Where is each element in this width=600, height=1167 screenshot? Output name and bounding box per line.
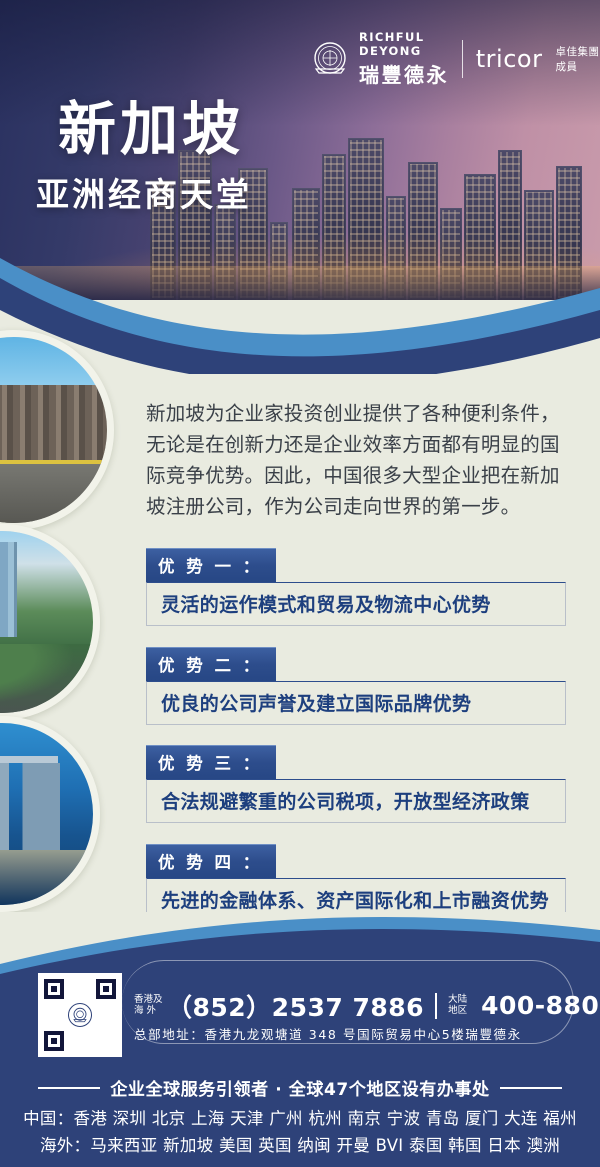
- phone-hk-label-line2: 海 外: [134, 1005, 156, 1016]
- qr-finder-top-right: [96, 979, 116, 999]
- advantage-text-2: 优良的公司声誉及建立国际品牌优势: [146, 681, 566, 725]
- phone-cn-label: 大陆 地区: [448, 995, 474, 1016]
- advantage-item-1: 优 势 一 ： 灵活的运作模式和贸易及物流中心优势: [146, 548, 566, 626]
- footer: 香港及 海 外 （852）2537 7886 大陆 地区 400-880 809…: [0, 912, 600, 1167]
- phone-hk-label: 香港及 海 外: [134, 995, 160, 1016]
- advantage-header-1: 优 势 一 ：: [146, 548, 276, 582]
- page-subtitle: 亚洲经商天堂: [36, 168, 252, 216]
- company-seal-emblem-icon: [310, 39, 350, 79]
- partner-name-cn: 卓佳集團成員: [555, 44, 600, 74]
- regions-overseas: 海外：马来西亚 新加坡 美国 英国 纳闽 开曼 BVI 泰国 韩国 日本 澳洲: [0, 1132, 600, 1159]
- advantage-item-2: 优 势 二 ： 优良的公司声誉及建立国际品牌优势: [146, 647, 566, 725]
- advantage-header-3: 优 势 三 ：: [146, 745, 276, 779]
- phone-cn-number[interactable]: 400-880 8098: [481, 991, 600, 1020]
- intro-paragraph: 新加坡为企业家投资创业提供了各种便利条件，无论是在创新力还是企业效率方面都有明显…: [146, 398, 564, 522]
- advantage-header-2: 优 势 二 ：: [146, 647, 276, 681]
- qr-code-icon[interactable]: [40, 975, 120, 1055]
- singapore-shophouse-street-photo: [0, 337, 107, 523]
- advantage-item-4: 优 势 四 ： 先进的金融体系、资产国际化和上市融资优势: [146, 844, 566, 922]
- photo-circle-1: [0, 330, 114, 530]
- phone-hk-label-line1: 香港及: [134, 994, 163, 1005]
- page-title: 新加坡: [58, 82, 244, 166]
- contact-row: 香港及 海 外 （852）2537 7886 大陆 地区 400-880 809…: [40, 975, 570, 1055]
- hero-banner: RICHFUL DEYONG 瑞豐德永 tricor 卓佳集團成員 新加坡 亚洲…: [0, 0, 600, 300]
- regions-china: 中国：香港 深圳 北京 上海 天津 广州 杭州 南京 宁波 青岛 厦门 大连 福…: [0, 1105, 600, 1132]
- regions-list: 中国：香港 深圳 北京 上海 天津 广州 杭州 南京 宁波 青岛 厦门 大连 福…: [0, 1105, 600, 1159]
- qr-center-logo-icon: [68, 1003, 92, 1027]
- brand-name-cn: 瑞豐德永: [359, 59, 449, 88]
- advantage-text-1: 灵活的运作模式和贸易及物流中心优势: [146, 582, 566, 626]
- brand-name-en: RICHFUL DEYONG: [359, 30, 449, 58]
- tagline-rule-right: [500, 1087, 562, 1089]
- advantage-text-3: 合法规避繁重的公司税项，开放型经济政策: [146, 779, 566, 823]
- tagline-text: 企业全球服务引领者 · 全球47个地区设有办事处: [110, 1075, 489, 1100]
- phone-divider: [435, 993, 437, 1019]
- phone-cn-label-line1: 大陆: [448, 994, 467, 1005]
- qr-finder-bottom-left: [44, 1031, 64, 1051]
- phone-line: 香港及 海 外 （852）2537 7886 大陆 地区 400-880 809…: [134, 988, 600, 1024]
- singapore-city-greenery-photo: [0, 531, 93, 713]
- photo-circle-3: [0, 716, 100, 912]
- photo-circle-2: [0, 524, 100, 720]
- qr-finder-top-left: [44, 979, 64, 999]
- phone-cn-label-line2: 地区: [448, 1005, 467, 1016]
- phone-hk-number[interactable]: （852）2537 7886: [167, 988, 424, 1024]
- advantage-header-4: 优 势 四 ：: [146, 844, 276, 878]
- contact-info: 香港及 海 外 （852）2537 7886 大陆 地区 400-880 809…: [134, 988, 600, 1043]
- advantage-item-3: 优 势 三 ： 合法规避繁重的公司税项，开放型经济政策: [146, 745, 566, 823]
- partner-name: tricor: [476, 45, 543, 73]
- brand-name-block: RICHFUL DEYONG 瑞豐德永: [359, 30, 449, 88]
- head-office-address: 总部地址：香港九龙观塘道 348 号国际贸易中心5楼瑞豐德永: [134, 1027, 522, 1042]
- logo-divider: [462, 40, 463, 78]
- brand-logo: RICHFUL DEYONG 瑞豐德永 tricor 卓佳集團成員: [310, 30, 600, 88]
- footer-tagline: 企业全球服务引领者 · 全球47个地区设有办事处: [0, 1075, 600, 1100]
- tagline-rule-left: [38, 1087, 100, 1089]
- marina-bay-sands-night-photo: [0, 723, 93, 905]
